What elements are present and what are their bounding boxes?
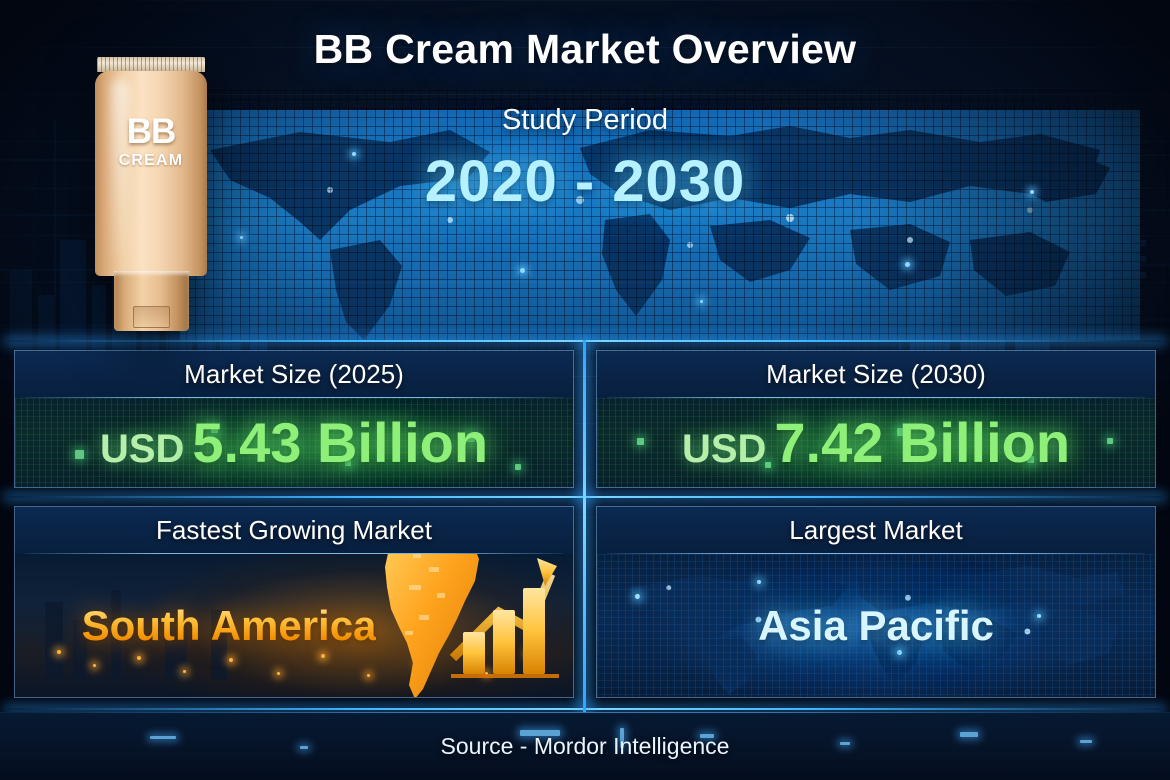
infographic-root: BB Cream Market Overview Study Period 20…: [0, 0, 1170, 780]
metrics-card-grid: Market Size (2025) USD5.43 Billion: [0, 340, 1170, 712]
tube-seal: [97, 57, 205, 72]
card-header-fastest-growing: Fastest Growing Market: [15, 507, 573, 554]
market-size-2030-amount: USD7.42 Billion: [682, 449, 1070, 466]
tube-body: [95, 71, 207, 276]
currency-label: USD: [100, 427, 184, 471]
market-size-2030-value-group: USD7.42 Billion: [682, 410, 1070, 475]
currency-label: USD: [682, 427, 766, 471]
fastest-growing-region-group: South America: [82, 602, 377, 650]
south-america-map-icon: [379, 554, 499, 697]
card-market-size-2025: Market Size (2025) USD5.43 Billion: [14, 350, 574, 488]
source-label: Source - Mordor Intelligence: [441, 733, 730, 760]
card-header-market-size-2025: Market Size (2025): [15, 351, 573, 398]
market-size-2025-value-group: USD5.43 Billion: [100, 410, 488, 475]
card-body-market-size-2025: USD5.43 Billion: [15, 398, 573, 487]
market-size-2025-amount: USD5.43 Billion: [100, 449, 488, 466]
largest-market-region-label: Asia Pacific: [758, 602, 994, 649]
tube-brand-secondary: CREAM: [95, 152, 207, 170]
card-largest-market: Largest Market: [596, 506, 1156, 698]
bb-cream-tube-image: BB CREAM: [95, 57, 207, 327]
card-body-fastest-growing: South America: [15, 554, 573, 697]
card-heading-label: Largest Market: [789, 515, 962, 546]
value-label: 7.42 Billion: [774, 411, 1070, 474]
footer-source-bar: Source - Mordor Intelligence: [0, 712, 1170, 780]
card-body-largest-market: Asia Pacific: [597, 554, 1155, 697]
fastest-growing-region-label: South America: [82, 602, 377, 649]
divider-vertical: [583, 340, 586, 712]
tube-cap: [114, 271, 189, 331]
card-fastest-growing-market: Fastest Growing Market: [14, 506, 574, 698]
card-market-size-2030: Market Size (2030) USD7.42 Billion: [596, 350, 1156, 488]
largest-market-region-group: Asia Pacific: [758, 602, 994, 650]
tube-brand-primary: BB: [95, 114, 207, 149]
card-heading-label: Market Size (2030): [766, 359, 986, 390]
card-heading-label: Fastest Growing Market: [156, 515, 432, 546]
value-label: 5.43 Billion: [192, 411, 488, 474]
card-header-largest-market: Largest Market: [597, 507, 1155, 554]
card-heading-label: Market Size (2025): [184, 359, 404, 390]
card-header-market-size-2030: Market Size (2030): [597, 351, 1155, 398]
tube-cap-notch: [133, 306, 170, 328]
tube-label: BB CREAM: [95, 114, 207, 170]
card-body-market-size-2030: USD7.42 Billion: [597, 398, 1155, 487]
